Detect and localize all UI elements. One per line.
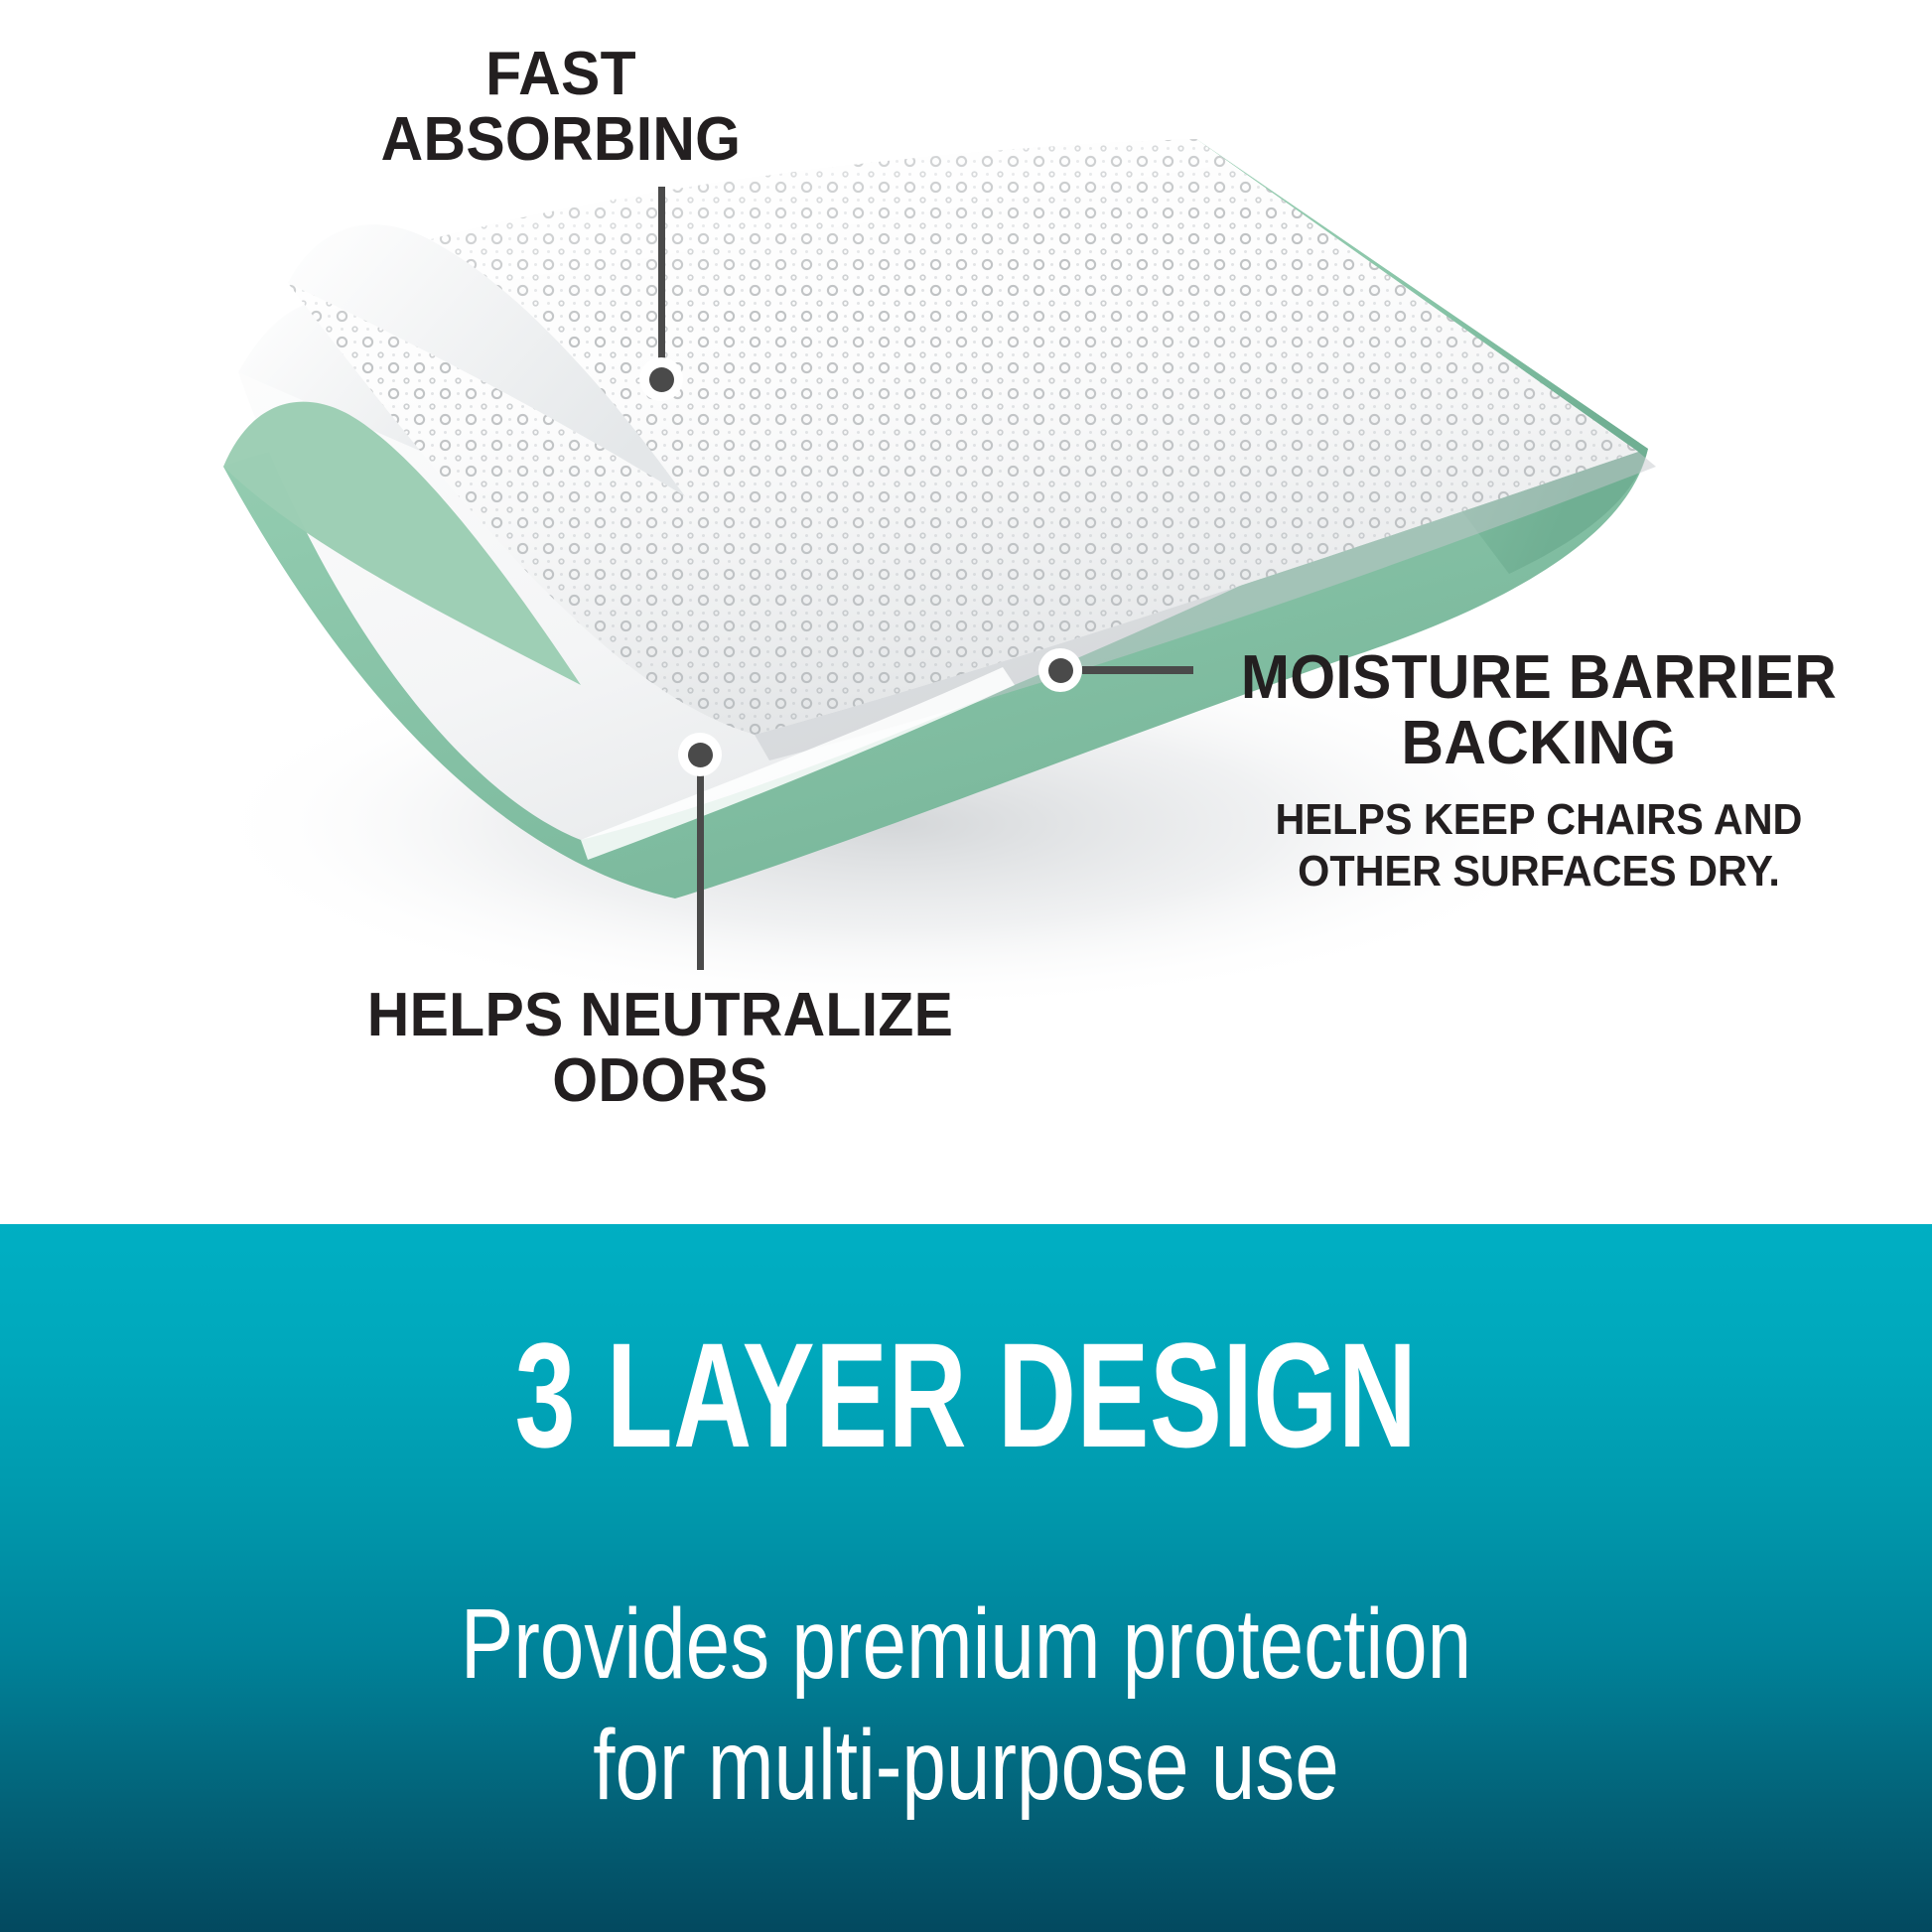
banner-title: 3 LAYER DESIGN — [261, 1320, 1672, 1469]
leader-line-fast-absorbing — [658, 187, 665, 373]
leader-dot-moisture-barrier — [1038, 648, 1082, 692]
callout-label-fast-absorbing: FAST ABSORBING — [340, 42, 783, 174]
callout-label-helps-neutralize-odors: HELPS NEUTRALIZE ODORS — [326, 983, 996, 1115]
banner-subtitle: Provides premium protection for multi-pu… — [194, 1584, 1739, 1826]
callout-subtext-moisture-barrier-backing: HELPS KEEP CHAIRS AND OTHER SURFACES DRY… — [1217, 794, 1862, 897]
leader-line-moisture-barrier — [1082, 666, 1193, 674]
product-feature-graphic: FAST ABSORBING MOISTURE BARRIER BACKING … — [0, 0, 1932, 1932]
leader-dot-neutralize-odors — [678, 733, 722, 776]
callout-label-moisture-barrier-backing: MOISTURE BARRIER BACKING — [1190, 645, 1888, 777]
leader-line-neutralize-odors — [697, 766, 704, 970]
leader-dot-fast-absorbing — [639, 357, 683, 401]
illustration-panel: FAST ABSORBING MOISTURE BARRIER BACKING … — [0, 0, 1932, 1224]
